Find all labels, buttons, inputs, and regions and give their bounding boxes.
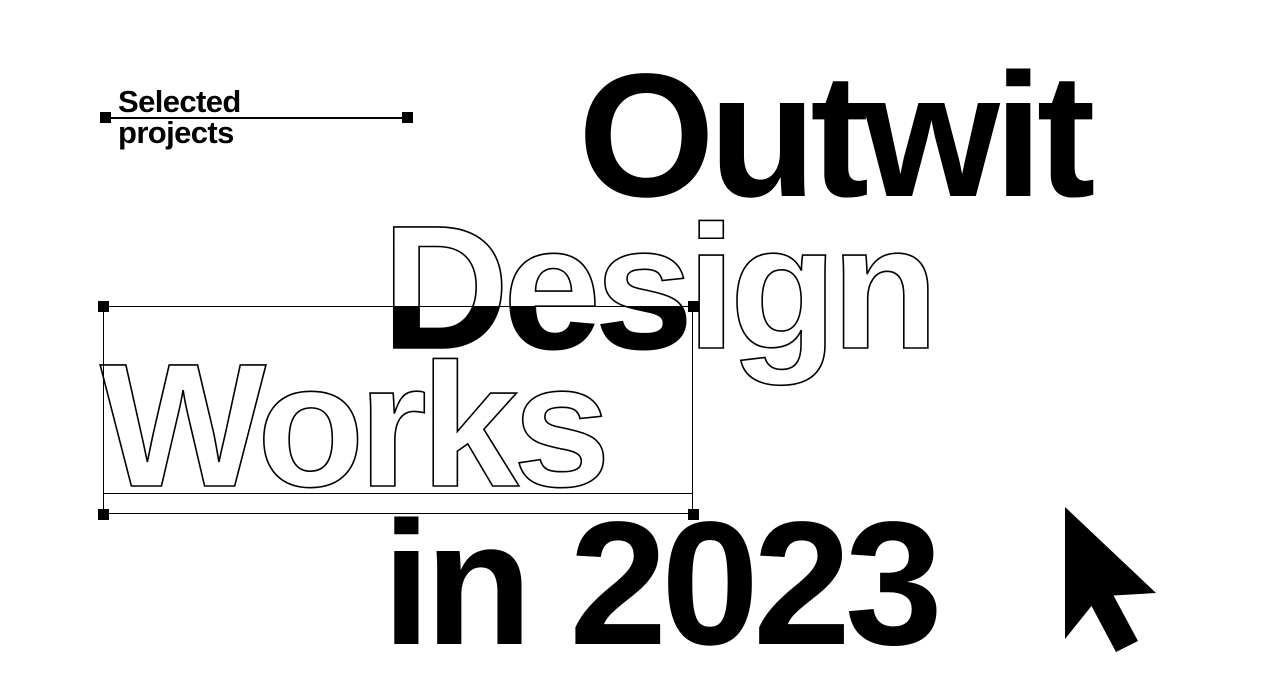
- selection-handle-top-right[interactable]: [688, 301, 699, 312]
- selection-baseline-rule: [103, 493, 693, 494]
- poster-canvas: Selected projects Outwit Design Design W…: [0, 0, 1280, 698]
- headline-word-in-2023[interactable]: in 2023: [382, 496, 937, 672]
- eyebrow-resize-handle-right[interactable]: [402, 112, 413, 123]
- mouse-cursor-arrow-icon[interactable]: [1058, 500, 1162, 654]
- selection-handle-bottom-right[interactable]: [688, 509, 699, 520]
- eyebrow-baseline-rule: [103, 117, 410, 119]
- selection-handle-bottom-left[interactable]: [98, 509, 109, 520]
- eyebrow-resize-handle-left[interactable]: [100, 112, 111, 123]
- selection-handle-top-left[interactable]: [98, 301, 109, 312]
